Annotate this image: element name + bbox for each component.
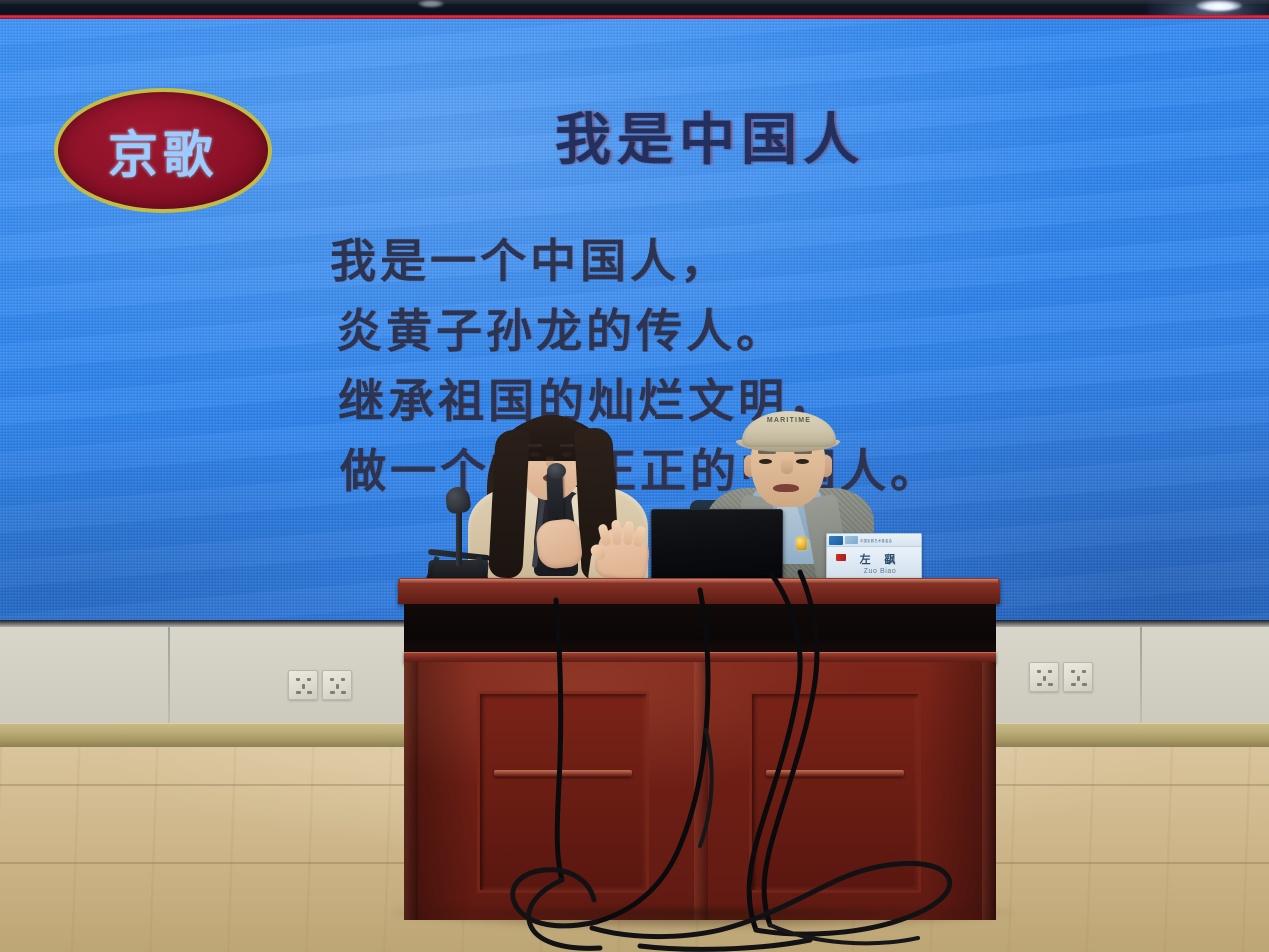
guest-man-mouth [773,484,799,492]
slide-lyrics: 我是一个中国人， 炎黄子孙龙的传人。 继承祖国的灿烂文明， 做一个堂堂正正的中国… [330,226,1050,506]
podium-stile [404,662,418,920]
power-outlet-icon[interactable] [1063,662,1093,692]
lyric-line: 继承祖国的灿烂文明， [330,366,1050,436]
stage-scene: 京歌 我是中国人 我是一个中国人， 炎黄子孙龙的传人。 继承祖国的灿烂文明， 做… [0,0,1269,952]
nameplate-organization: 中国京剧艺术基金会 [860,538,919,543]
ceiling-spotlight-icon [1196,0,1242,11]
organization-logo-icon [845,536,858,544]
power-outlet-icon[interactable] [1029,662,1059,692]
podium-floor-shadow [392,908,1012,930]
power-outlet-icon[interactable] [322,670,352,700]
slide-badge-label: 京歌 [108,115,218,187]
podium-recess [404,604,996,658]
ceiling-seam [0,0,1269,4]
finger [611,520,622,546]
podium-panel-slot [494,770,632,777]
lapel-pin-icon [796,537,807,550]
nameplate-body: 左 飖 Zuo Biao [827,547,921,575]
podium-desktop-highlight [400,579,998,583]
speaker-woman-hand-holding-mic [535,518,584,570]
podium-stile [694,662,708,920]
nameplate: 中国京剧艺术基金会 左 飖 Zuo Biao [826,533,922,583]
lyric-line: 我是一个中国人， [330,226,1050,296]
cap-logo-text: MARITIME [752,417,826,424]
flag-icon [836,554,846,561]
speaker-woman-eyebrow [528,444,542,447]
slide-title: 我是中国人 [500,95,920,176]
guest-man-eye [796,459,809,464]
ceiling-spotlight-icon [418,0,444,7]
nameplate-header: 中国京剧艺术基金会 [827,534,921,547]
lyric-line: 做一个堂堂正正的中国人。 [330,436,1050,506]
speaker-woman-eyebrow [560,444,574,447]
ceiling-band [0,0,1269,16]
podium-panel [752,694,918,890]
speaker-woman-eye [530,452,540,457]
organization-logo-icon [829,536,843,545]
handheld-microphone-head[interactable] [547,463,566,479]
guest-man-nose [781,458,793,474]
wall-outlet-left[interactable] [288,670,352,700]
guest-man-eye [759,459,772,464]
wall-panel-seam [1140,627,1142,725]
podium-panel-slot [766,770,904,777]
laptop[interactable] [651,509,783,581]
podium-stile [982,662,996,920]
slide-badge: 京歌 [54,88,272,213]
nameplate-pinyin: Zuo Biao [827,568,921,575]
finger [623,521,634,546]
wall-outlet-right[interactable] [1029,662,1093,692]
speaker-woman-eye [562,452,572,457]
power-outlet-icon[interactable] [288,670,318,700]
lyric-line: 炎黄子孙龙的传人。 [330,296,1050,366]
podium-panel [480,694,646,890]
wall-panel-seam [168,627,170,725]
